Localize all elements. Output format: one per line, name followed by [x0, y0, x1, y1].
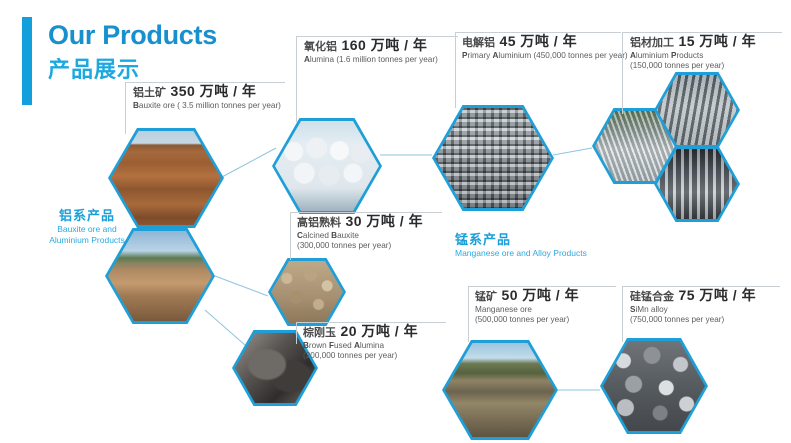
label-cn: 铝材加工	[630, 37, 674, 49]
leader-stem-manganese-ore	[468, 286, 469, 342]
page-title-en: Our Products	[48, 20, 217, 51]
label-en-1: Brown Fused Alumina	[303, 341, 418, 351]
label-en-1: SiMn alloy	[630, 305, 756, 315]
section-title-cn: 锰系产品	[455, 232, 587, 248]
label-en-1: Primary Aluminium (450,000 tonnes per ye…	[462, 51, 628, 61]
label-brown-fused-alumina: 棕刚玉 20 万吨 / 年 Brown Fused Alumina (200,0…	[303, 324, 418, 361]
label-simn-alloy: 硅锰合金 75 万吨 / 年 SiMn alloy (750,000 tonne…	[630, 288, 756, 325]
label-capacity: 45 万吨 / 年	[499, 33, 577, 49]
label-alumina: 氧化铝 160 万吨 / 年 Alumina (1.6 million tonn…	[304, 38, 438, 65]
leader-stem-bauxite-ore	[125, 82, 126, 134]
hex-tile-calcined-bauxite[interactable]	[268, 258, 346, 326]
label-cn: 电解铝	[462, 37, 495, 49]
label-cn: 铝土矿	[133, 87, 166, 99]
label-en-1: Aluminium Products	[630, 51, 756, 61]
section-title-cn: 铝系产品	[22, 208, 152, 224]
hex-tile-manganese-ore[interactable]	[442, 340, 558, 440]
label-manganese-ore: 锰矿 50 万吨 / 年 Manganese ore (500,000 tonn…	[475, 288, 579, 325]
hex-image-simn-alloy	[603, 341, 705, 431]
label-capacity: 350 万吨 / 年	[170, 83, 256, 99]
label-en-1: Manganese ore	[475, 305, 579, 315]
leader-stem-simn-alloy	[622, 286, 623, 342]
label-cn: 锰矿	[475, 291, 497, 303]
hex-tile-simn-alloy[interactable]	[600, 338, 708, 434]
label-cn: 棕刚玉	[303, 327, 336, 339]
leader-stem-primary-aluminium	[455, 32, 456, 108]
label-capacity: 160 万吨 / 年	[341, 37, 427, 53]
hex-tile-alumina[interactable]	[272, 118, 382, 214]
label-cn: 硅锰合金	[630, 291, 674, 303]
section-heading-manganese: 锰系产品 Manganese ore and Alloy Products	[455, 232, 587, 259]
label-en-2: (300,000 tonnes per year)	[297, 241, 423, 251]
label-capacity: 20 万吨 / 年	[340, 323, 418, 339]
label-en-2: (200,000 tonnes per year)	[303, 351, 418, 361]
hex-image-calcined-bauxite	[271, 261, 343, 323]
leader-stem-alumina	[296, 36, 297, 122]
page-title-cn: 产品展示	[48, 52, 140, 84]
section-title-en: Manganese ore and Alloy Products	[455, 248, 587, 259]
hex-image-manganese-ore	[445, 343, 555, 437]
section-title-en: Bauxite ore andAluminium Products	[22, 224, 152, 245]
label-cn: 氧化铝	[304, 41, 337, 53]
leader-stem-calcined-bauxite	[290, 212, 291, 260]
label-bauxite-ore: 铝土矿 350 万吨 / 年 Bauxite ore ( 3.5 million…	[133, 84, 281, 111]
label-capacity: 30 万吨 / 年	[345, 213, 423, 229]
infographic-canvas: Our Products 产品展示	[0, 0, 791, 443]
label-en-2: (500,000 tonnes per year)	[475, 315, 579, 325]
label-primary-aluminium: 电解铝 45 万吨 / 年 Primary Aluminium (450,000…	[462, 34, 628, 61]
hex-tile-primary-aluminium[interactable]	[432, 105, 554, 211]
label-aluminium-products: 铝材加工 15 万吨 / 年 Aluminium Products (150,0…	[630, 34, 756, 71]
label-en-2: (150,000 tonnes per year)	[630, 61, 756, 71]
label-capacity: 15 万吨 / 年	[678, 33, 756, 49]
label-capacity: 50 万吨 / 年	[501, 287, 579, 303]
hex-image-alumina	[275, 121, 379, 211]
label-capacity: 75 万吨 / 年	[678, 287, 756, 303]
label-en-2: (750,000 tonnes per year)	[630, 315, 756, 325]
section-heading-aluminium: 铝系产品 Bauxite ore andAluminium Products	[22, 208, 152, 245]
label-en-1: Bauxite ore ( 3.5 million tonnes per yea…	[133, 101, 281, 111]
leader-stem-brown-fused-alumina	[296, 322, 297, 344]
label-en-1: Calcined Bauxite	[297, 231, 423, 241]
hex-image-alu-products-2	[657, 75, 737, 145]
label-calcined-bauxite: 高铝熟料 30 万吨 / 年 Calcined Bauxite (300,000…	[297, 214, 423, 251]
title-accent-bar	[22, 17, 32, 105]
hex-image-primary-aluminium	[435, 108, 551, 208]
label-en-1: Alumina (1.6 million tonnes per year)	[304, 55, 438, 65]
leader-stem-aluminium-products	[622, 32, 623, 114]
label-cn: 高铝熟料	[297, 217, 341, 229]
hex-image-alu-products-3	[657, 149, 737, 219]
